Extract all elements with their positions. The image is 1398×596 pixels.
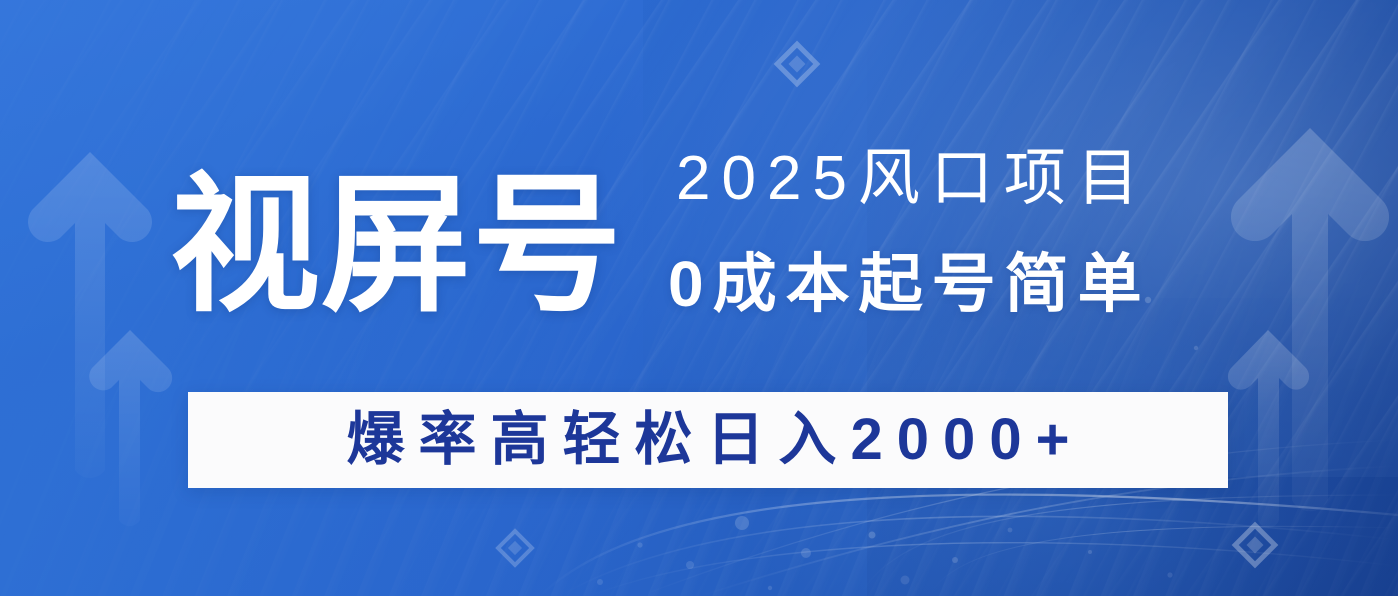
- brand-title: 视屏号: [170, 166, 623, 325]
- sub-banner: 爆率高轻松日入2000+: [188, 392, 1228, 488]
- sub-banner-text: 爆率高轻松日入2000+: [333, 411, 1084, 469]
- poster-content: 视屏号 2025风口项目 0成本起号简单 爆率高轻松日入2000+: [0, 0, 1398, 596]
- promo-banner: 视屏号 2025风口项目 0成本起号简单 爆率高轻松日入2000+: [0, 0, 1398, 596]
- tagline-secondary: 0成本起号简单: [668, 252, 1151, 316]
- tagline-primary: 2025风口项目: [676, 148, 1150, 210]
